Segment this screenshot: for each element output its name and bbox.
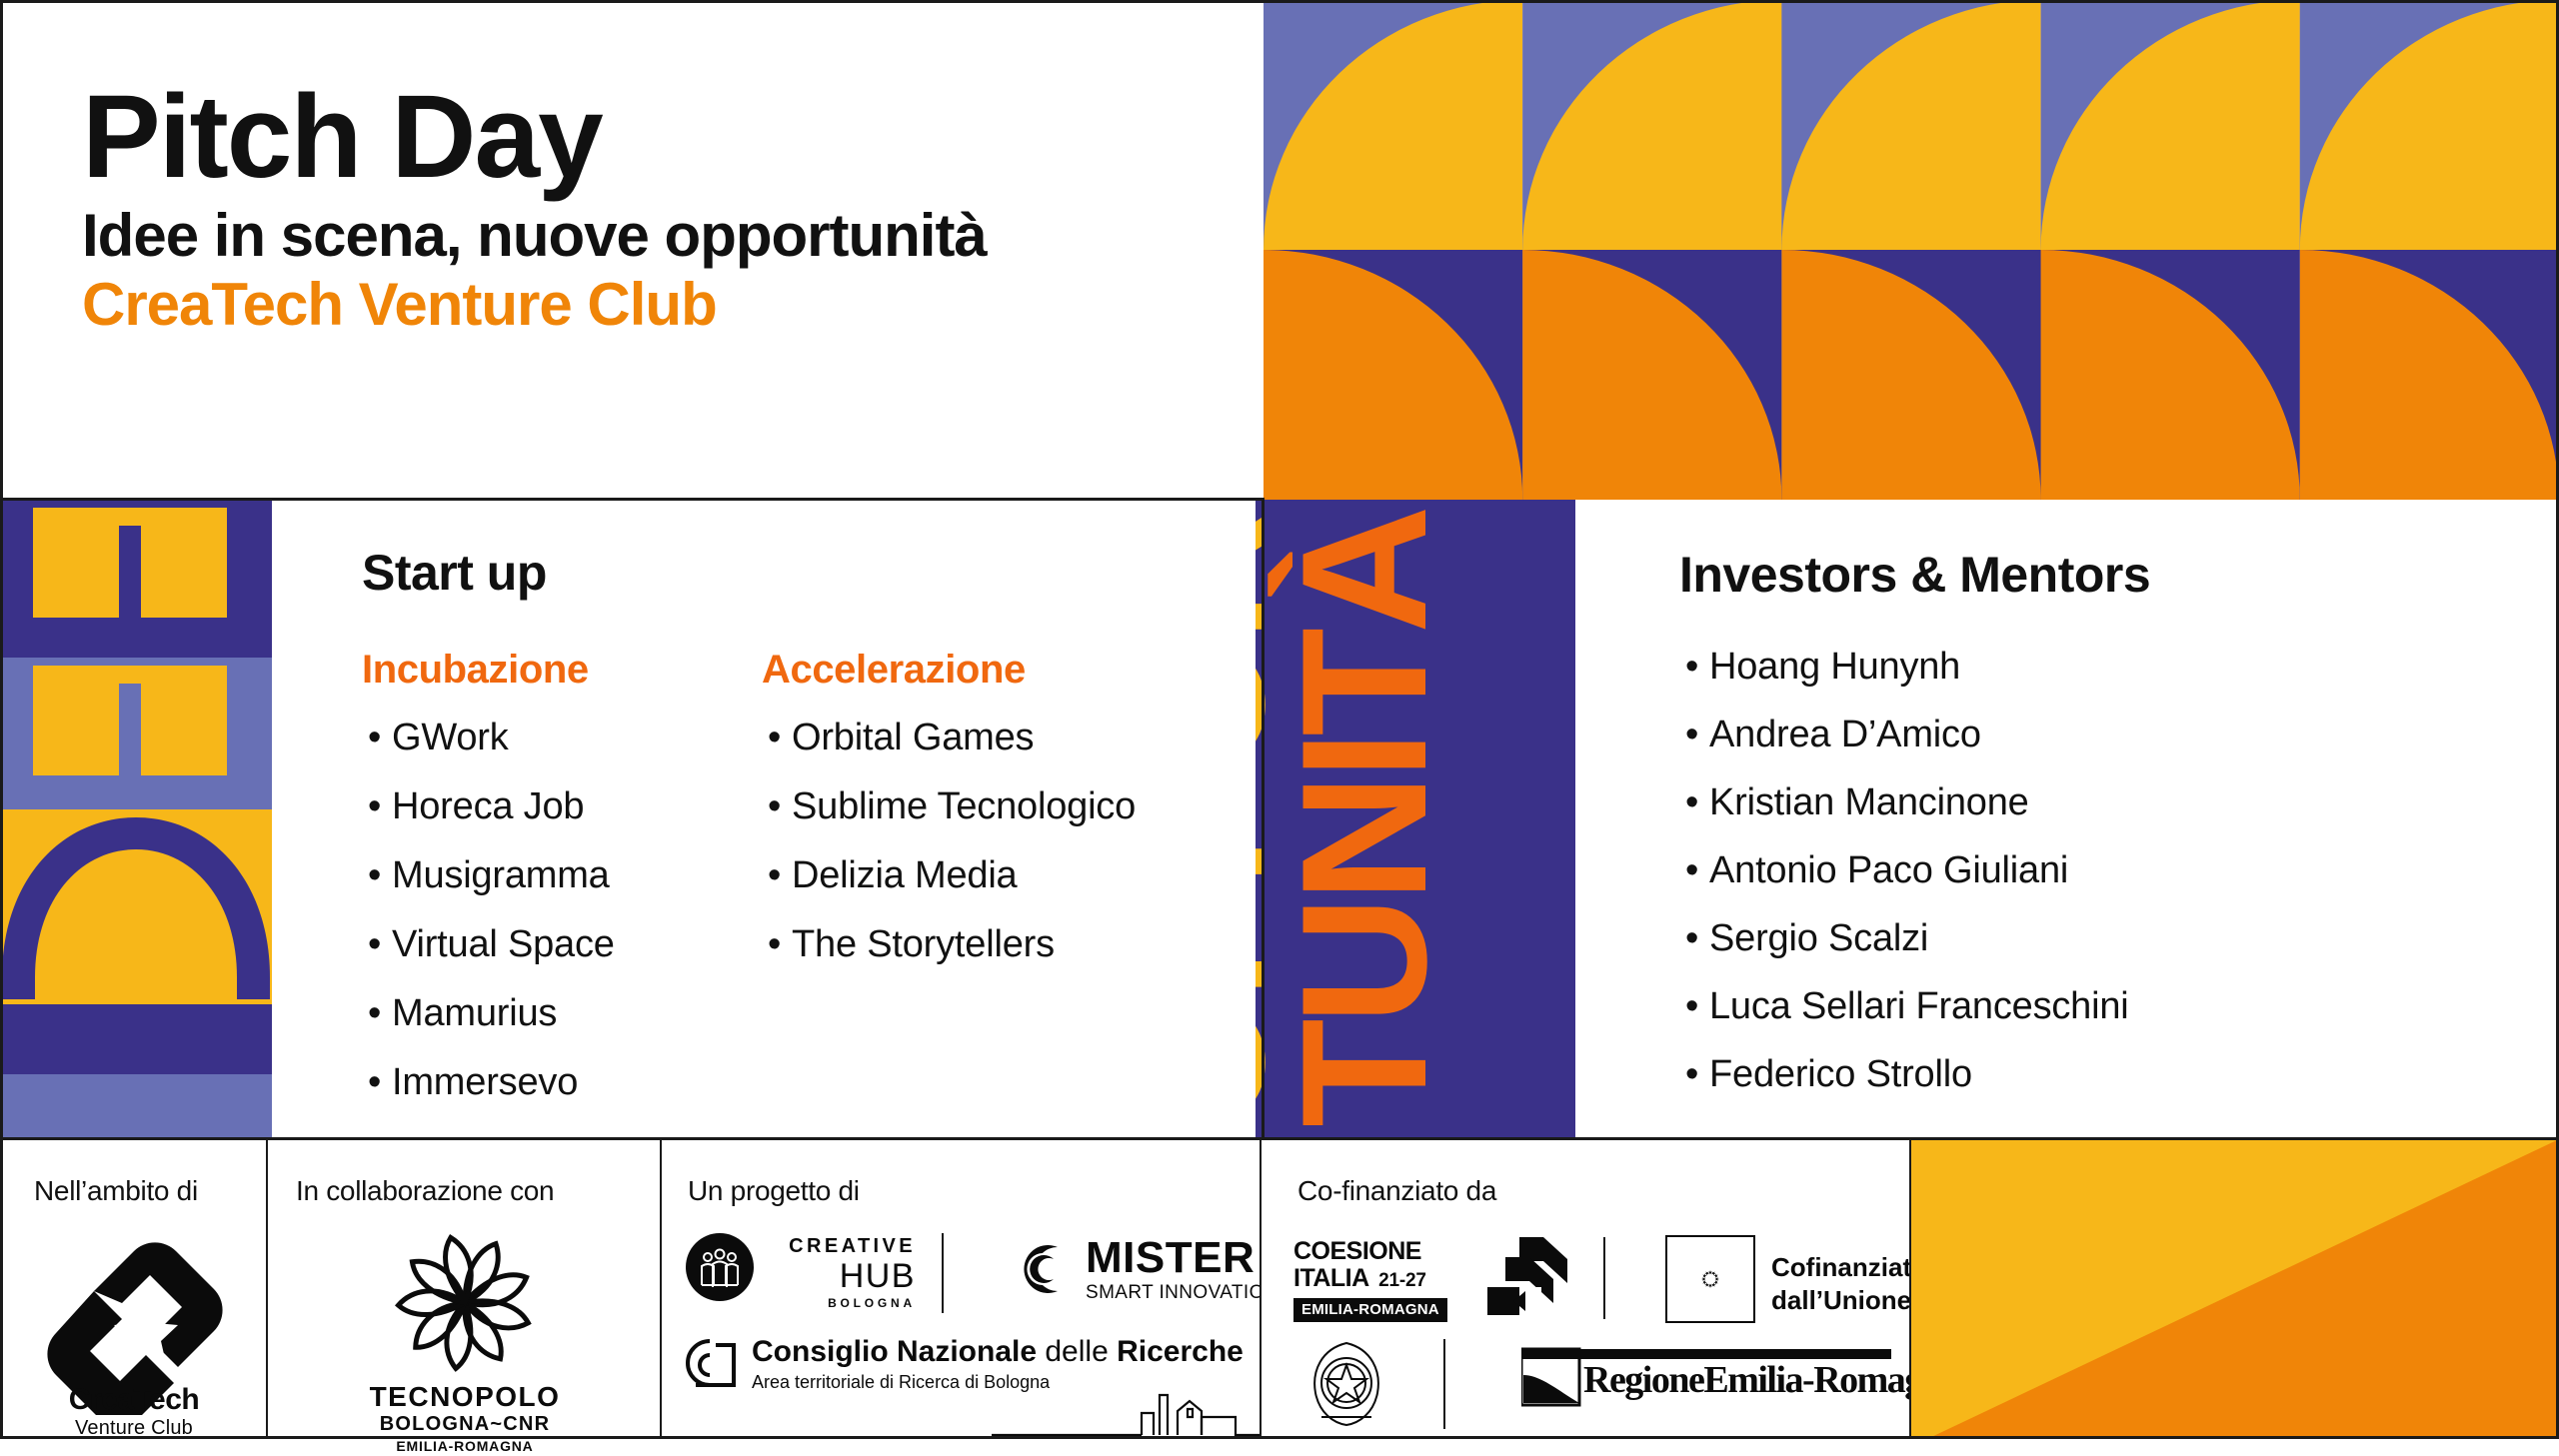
list-item: Virtual Space — [362, 925, 762, 963]
coesione-line1: COESIONE — [1293, 1237, 1421, 1265]
startup-list-accelerazione: Orbital Games Sublime Tecnologico Delizi… — [762, 719, 1232, 963]
startup-list-incubazione: GWork Horeca Job Musigramma Virtual Spac… — [362, 719, 762, 1101]
title-group: Pitch Day Idee in scena, nuove opportuni… — [82, 78, 1202, 338]
investors-heading: Investors & Mentors — [1679, 546, 2150, 604]
footer-divider-4 — [1909, 1139, 1911, 1439]
tecnopolo-line2: BOLOGNA~CNR — [268, 1411, 662, 1437]
list-item: Antonio Paco Giuliani — [1679, 851, 2519, 889]
startup-column-accelerazione: Accelerazione Orbital Games Sublime Tecn… — [762, 648, 1232, 994]
creative-hub-mark-icon — [686, 1233, 754, 1301]
coesione-chevrons-icon — [1483, 1235, 1575, 1321]
list-item: The Storytellers — [762, 925, 1232, 963]
frame-line-footer-top — [0, 1137, 2559, 1140]
creative-hub-line1: CREATIVE — [766, 1235, 916, 1257]
footer-label-nellambito: Nell’ambito di — [34, 1175, 198, 1207]
regione-emilia-romagna-logo: RegioneEmilia-Romagna — [1521, 1345, 1891, 1419]
list-item: Hoang Hunynh — [1679, 648, 2519, 686]
footer-label-progetto: Un progetto di — [688, 1175, 860, 1207]
cnr-line1a: Consiglio Nazionale — [752, 1335, 1037, 1368]
eu-flag-icon — [1665, 1235, 1755, 1323]
footer-cell-cofinanziato: Co-finanziato da COESIONE ITALIA 21-27 E… — [1262, 1139, 1911, 1439]
footer-divider-1 — [266, 1139, 268, 1439]
creative-hub-line2: HUB — [766, 1257, 916, 1296]
startup-panel: Start up Incubazione GWork Horeca Job Mu… — [272, 500, 1256, 1139]
tecnopolo-line1: TECNOPOLO — [268, 1382, 662, 1411]
tecnopolo-line3: EMILIA-ROMAGNA — [268, 1437, 662, 1455]
frame-line-top — [0, 0, 2559, 3]
mister-mark-icon — [1018, 1231, 1094, 1307]
cnr-mark-icon — [684, 1335, 742, 1393]
coesione-region: EMILIA-ROMAGNA — [1301, 1301, 1439, 1318]
coesione-arrow-icon — [1483, 1235, 1575, 1321]
regione-name: RegioneEmilia-Romagna — [1583, 1361, 1959, 1399]
creative-hub-wordmark: CREATIVE HUB BOLOGNA — [766, 1235, 946, 1310]
footer-cell-nellambito: Nell’ambito di CreaTech Venture Club — [0, 1139, 268, 1439]
logo-divider — [942, 1233, 944, 1313]
idee-decor — [0, 500, 272, 1139]
idee-svg — [0, 500, 272, 1139]
list-item: Musigramma — [362, 856, 762, 894]
investors-list: Hoang Hunynh Andrea D’Amico Kristian Man… — [1679, 648, 2519, 1093]
middle-band: Start up Incubazione GWork Horeca Job Mu… — [0, 500, 2559, 1139]
list-item: Horeca Job — [362, 787, 762, 825]
coesione-line2: ITALIA — [1293, 1264, 1369, 1292]
poster-root: Pitch Day Idee in scena, nuove opportuni… — [0, 0, 2559, 1439]
repubblica-emblem-svg — [1303, 1337, 1389, 1429]
logo-divider — [1443, 1339, 1445, 1429]
opportunita-svg: OPPOR TUNITÀ — [1256, 500, 1575, 1139]
investors-heading-wrap: Investors & Mentors — [1679, 546, 2150, 604]
startup-heading: Start up — [362, 544, 547, 602]
repubblica-italiana-emblem-icon — [1303, 1337, 1389, 1429]
cnr-line1c: Ricerche — [1117, 1335, 1244, 1368]
column-heading-incubazione: Incubazione — [362, 648, 762, 693]
frame-line-middle-vertical — [1262, 498, 1265, 1139]
mister-swoosh-icon — [1018, 1231, 1094, 1307]
footer-cell-progetto: Un progetto di CREATIVE HUB B — [662, 1139, 1262, 1439]
coesione-years: 21-27 — [1378, 1270, 1426, 1291]
cnr-emblem-icon — [684, 1335, 742, 1393]
opportunita-decor: OPPOR TUNITÀ — [1256, 500, 1575, 1139]
opportunita-text-line2: TUNITÀ — [1265, 510, 1463, 1127]
coesione-italia-logo: COESIONE ITALIA 21-27 EMILIA-ROMAGNA — [1293, 1239, 1483, 1322]
column-heading-accelerazione: Accelerazione — [762, 648, 1232, 693]
list-item: Andrea D’Amico — [1679, 716, 2519, 753]
header-block: Pitch Day Idee in scena, nuove opportuni… — [0, 0, 1264, 500]
bologna-skyline-svg — [992, 1391, 1262, 1439]
cnr-line1b: delle — [1037, 1335, 1117, 1368]
brand-line: CreaTech Venture Club — [82, 271, 1202, 338]
tecnopolo-mark-icon — [380, 1225, 550, 1380]
startup-column-incubazione: Incubazione GWork Horeca Job Musigramma … — [362, 648, 762, 1132]
footer-divider-2 — [660, 1139, 662, 1439]
page-subtitle: Idee in scena, nuove opportunità — [82, 202, 1202, 269]
list-item: Mamurius — [362, 994, 762, 1032]
list-item: Federico Strollo — [1679, 1055, 2519, 1093]
tecnopolo-wordmark: TECNOPOLO BOLOGNA~CNR EMILIA-ROMAGNA — [268, 1382, 662, 1456]
bologna-skyline-icon — [992, 1391, 1262, 1439]
list-item: Luca Sellari Franceschini — [1679, 987, 2519, 1025]
footer-label-collaborazione: In collaborazione con — [296, 1175, 554, 1207]
page-title: Pitch Day — [82, 78, 1202, 196]
logo-divider — [1603, 1237, 1605, 1319]
creative-hub-line3: BOLOGNA — [766, 1296, 916, 1310]
tecnopolo-pinwheel-icon — [380, 1225, 550, 1380]
footer-block: Nell’ambito di CreaTech Venture Club In … — [0, 1139, 2559, 1439]
footer-label-cofinanziato: Co-finanziato da — [1297, 1175, 1496, 1207]
frame-line-left — [0, 0, 3, 1439]
footer-cell-collaborazione: In collaborazione con — [268, 1139, 662, 1439]
list-item: Immersevo — [362, 1063, 762, 1101]
cnr-wordmark: Consiglio Nazionale delle Ricerche Area … — [752, 1335, 1252, 1397]
footer-diagonal-decor-svg — [1911, 1139, 2559, 1439]
createch-wordmark: CreaTech Venture Club — [0, 1385, 268, 1441]
createch-name: CreaTech — [0, 1385, 268, 1415]
footer-divider-3 — [1260, 1139, 1262, 1439]
list-item: Orbital Games — [762, 719, 1232, 756]
list-item: Sublime Tecnologico — [762, 787, 1232, 825]
eu-stars-icon — [1667, 1237, 1753, 1321]
list-item: Delizia Media — [762, 856, 1232, 894]
pattern-svg — [1264, 0, 2559, 500]
creative-hub-people-icon — [686, 1233, 754, 1301]
frame-line-header-bottom — [0, 498, 1264, 501]
list-item: Sergio Scalzi — [1679, 919, 2519, 957]
list-item: Kristian Mancinone — [1679, 783, 2519, 821]
geometric-pattern-decor — [1264, 0, 2559, 500]
investors-list-wrap: Hoang Hunynh Andrea D’Amico Kristian Man… — [1679, 648, 2519, 1123]
startup-heading-wrap: Start up — [362, 544, 547, 602]
list-item: GWork — [362, 719, 762, 756]
footer-decor-block — [1911, 1139, 2559, 1439]
investors-panel: Investors & Mentors Hoang Hunynh Andrea … — [1575, 500, 2559, 1139]
